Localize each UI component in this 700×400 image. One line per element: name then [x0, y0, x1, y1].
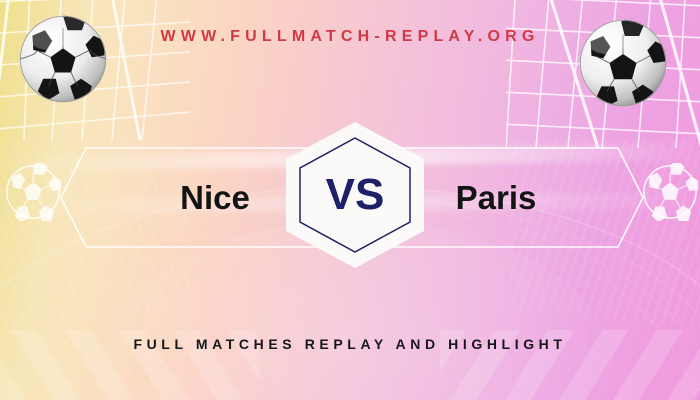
soccer-ball-outline-left-icon: [4, 163, 62, 221]
away-team-name: Paris: [396, 147, 596, 248]
tagline-text: FULL MATCHES REPLAY AND HIGHLIGHT: [0, 336, 700, 352]
match-promo-banner: WWW.FULLMATCH-REPLAY.ORG: [0, 0, 700, 400]
soccer-ball-outline-right-icon: [641, 163, 699, 221]
versus-label: VS: [284, 121, 426, 269]
site-url-text: WWW.FULLMATCH-REPLAY.ORG: [0, 28, 700, 46]
versus-hexagon-badge: VS: [284, 121, 426, 269]
